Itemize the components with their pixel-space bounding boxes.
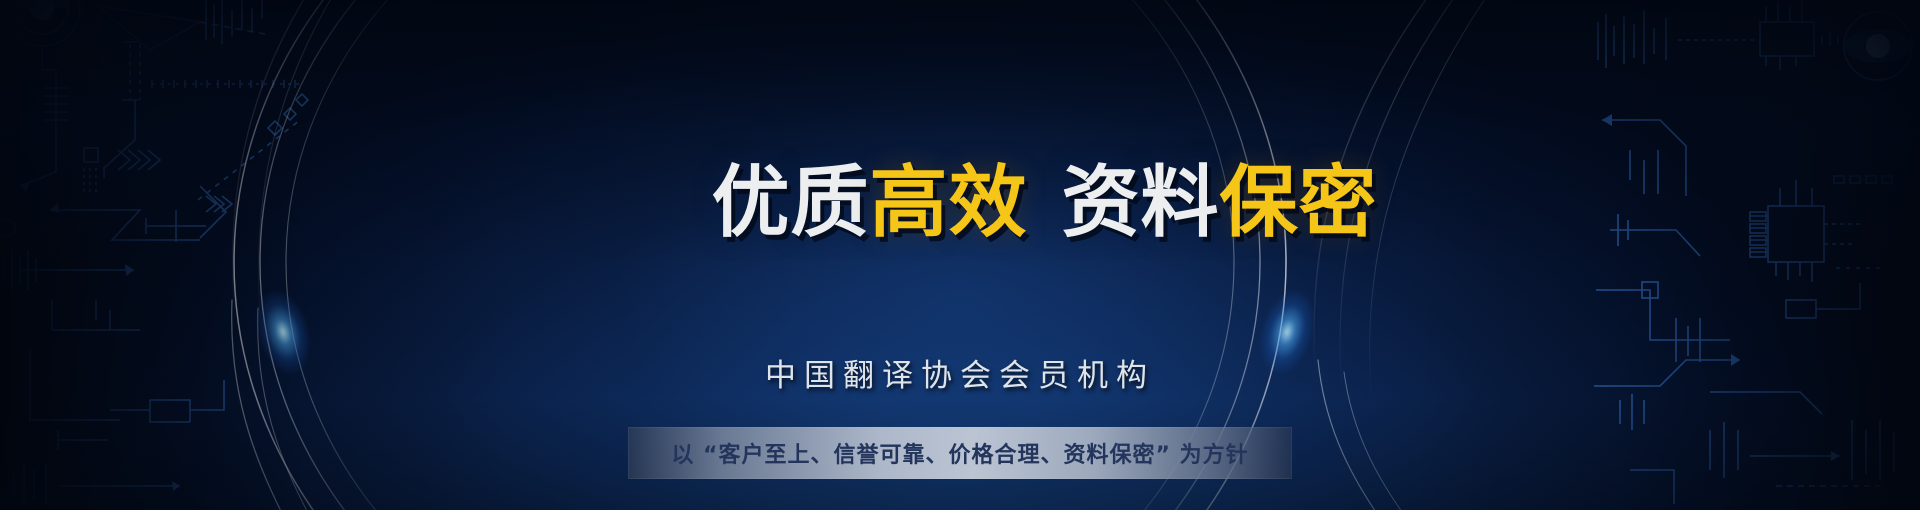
title-segment-efficient: 高效 <box>869 158 1027 248</box>
slogan-text: 以 “客户至上、信誉可靠、价格合理、资料保密” 为方针 <box>671 437 1248 469</box>
title-segment-materials: 资料 <box>1061 158 1219 248</box>
banner-subtitle: 中国翻译协会会员机构 <box>765 350 1155 395</box>
hero-banner: 优质高效资料保密 中国翻译协会会员机构 以 “客户至上、信誉可靠、价格合理、资料… <box>0 0 1920 510</box>
banner-content: 优质高效资料保密 中国翻译协会会员机构 以 “客户至上、信誉可靠、价格合理、资料… <box>0 0 1920 510</box>
title-segment-quality: 优质 <box>711 158 869 248</box>
title-segment-confidential: 保密 <box>1219 158 1377 248</box>
slogan-bar: 以 “客户至上、信誉可靠、价格合理、资料保密” 为方针 <box>628 427 1292 479</box>
banner-title: 优质高效资料保密 <box>543 86 1378 320</box>
